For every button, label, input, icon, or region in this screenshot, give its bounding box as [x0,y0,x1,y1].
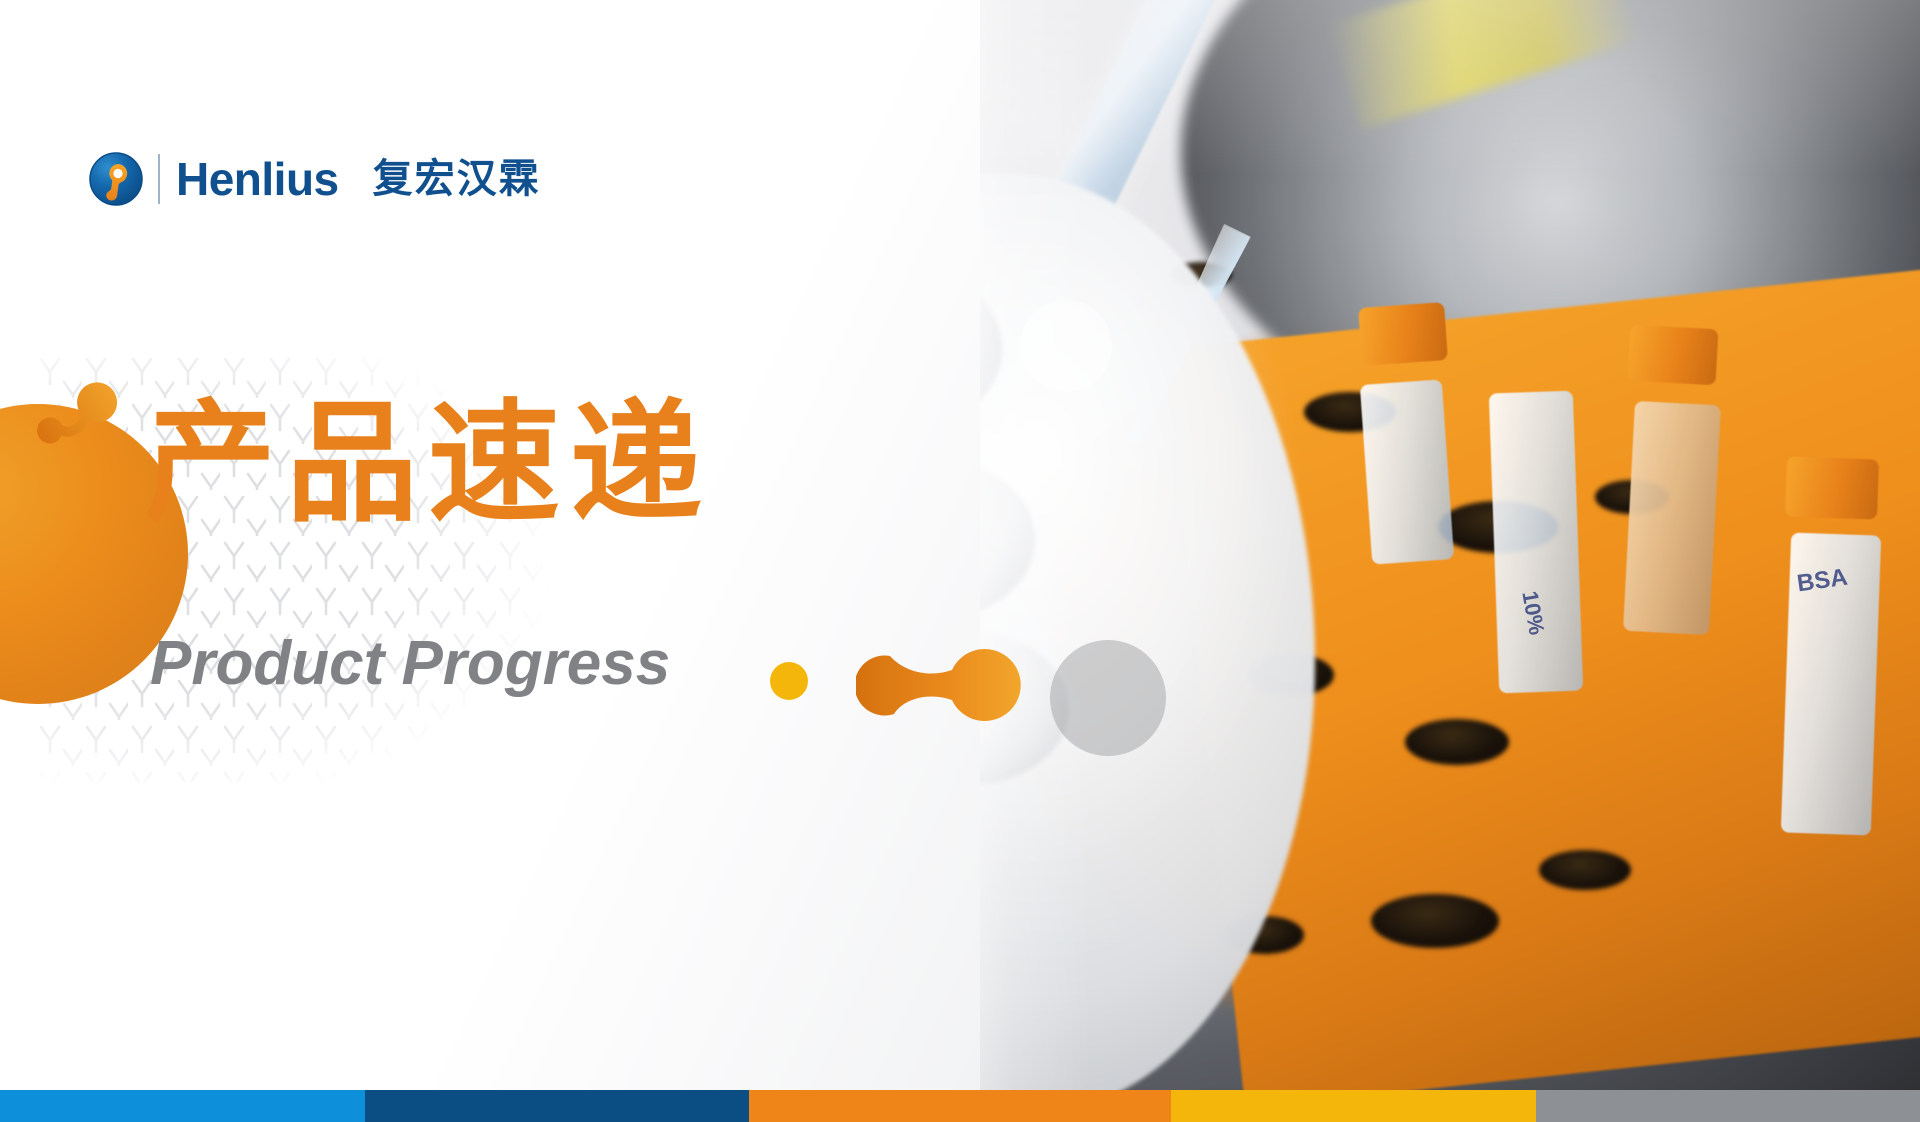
logo-chinese-name: 复宏汉霖 [373,159,541,199]
page-title-chinese: 产品速递 [144,380,712,549]
rack-hole [1405,719,1509,765]
decor-yellow-dot [770,662,808,700]
page-subtitle-english: Product Progress [150,628,670,699]
decor-gray-circle [1050,640,1166,756]
segment-amber [1171,1090,1536,1122]
logo-divider [158,154,160,204]
segment-gray [1536,1090,1920,1122]
presentation-slide: 10% BSA Blood [0,0,1920,1122]
photo-tube-cap [1627,325,1718,386]
photo-tube-cap [1785,456,1879,519]
segment-orange [749,1090,1171,1122]
decor-molecule-large [856,648,1056,732]
decor-white-circle [1020,300,1112,392]
rack-hole [1539,850,1631,890]
photo-tube-body [1623,401,1721,635]
photo-tube-cap [1358,302,1448,366]
logo-wordmark: Henlius [176,156,339,202]
henlius-logo-mark [88,151,144,207]
photo-tube-body [1489,391,1583,694]
bottom-color-bar [0,1090,1920,1122]
segment-dark-blue [365,1090,749,1122]
rack-hole [1371,894,1499,948]
segment-light-blue [0,1090,365,1122]
photo-tube-body [1359,379,1453,564]
henlius-logo[interactable]: Henlius 复宏汉霖 [88,148,541,210]
